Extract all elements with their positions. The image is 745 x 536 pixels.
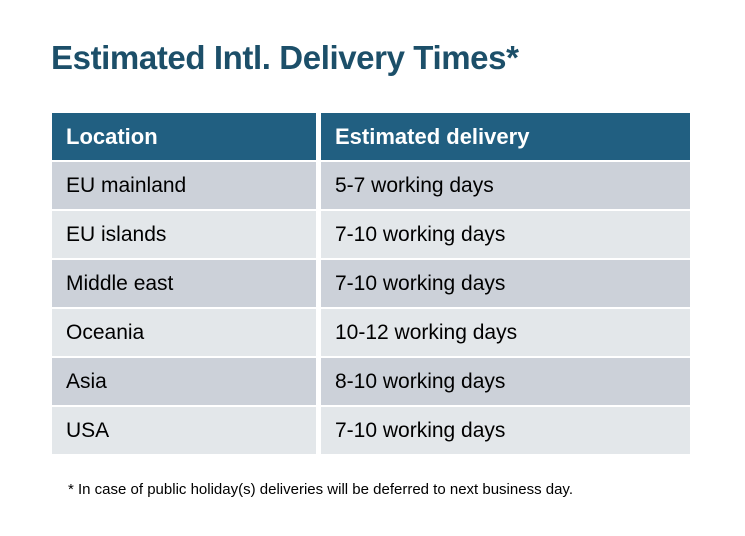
- cell-estimated-delivery: 8-10 working days: [321, 358, 690, 405]
- table-row: USA 7-10 working days: [52, 407, 690, 454]
- cell-estimated-delivery: 7-10 working days: [321, 407, 690, 454]
- column-header-estimated-delivery: Estimated delivery: [321, 113, 690, 160]
- cell-location: EU islands: [52, 211, 316, 258]
- table-row: Oceania 10-12 working days: [52, 309, 690, 356]
- page-title: Estimated Intl. Delivery Times*: [51, 38, 519, 78]
- cell-estimated-delivery: 7-10 working days: [321, 260, 690, 307]
- cell-location: EU mainland: [52, 162, 316, 209]
- cell-location: Oceania: [52, 309, 316, 356]
- cell-location: Asia: [52, 358, 316, 405]
- cell-estimated-delivery: 5-7 working days: [321, 162, 690, 209]
- cell-estimated-delivery: 7-10 working days: [321, 211, 690, 258]
- table-row: EU mainland 5-7 working days: [52, 162, 690, 209]
- table-row: Middle east 7-10 working days: [52, 260, 690, 307]
- column-header-location: Location: [52, 113, 316, 160]
- delivery-times-table: Location Estimated delivery EU mainland …: [52, 113, 690, 456]
- table-row: EU islands 7-10 working days: [52, 211, 690, 258]
- cell-estimated-delivery: 10-12 working days: [321, 309, 690, 356]
- cell-location: Middle east: [52, 260, 316, 307]
- table-row: Asia 8-10 working days: [52, 358, 690, 405]
- cell-location: USA: [52, 407, 316, 454]
- footnote-text: * In case of public holiday(s) deliverie…: [68, 480, 573, 500]
- table-header-row: Location Estimated delivery: [52, 113, 690, 160]
- delivery-times-page: Estimated Intl. Delivery Times* Location…: [0, 0, 745, 536]
